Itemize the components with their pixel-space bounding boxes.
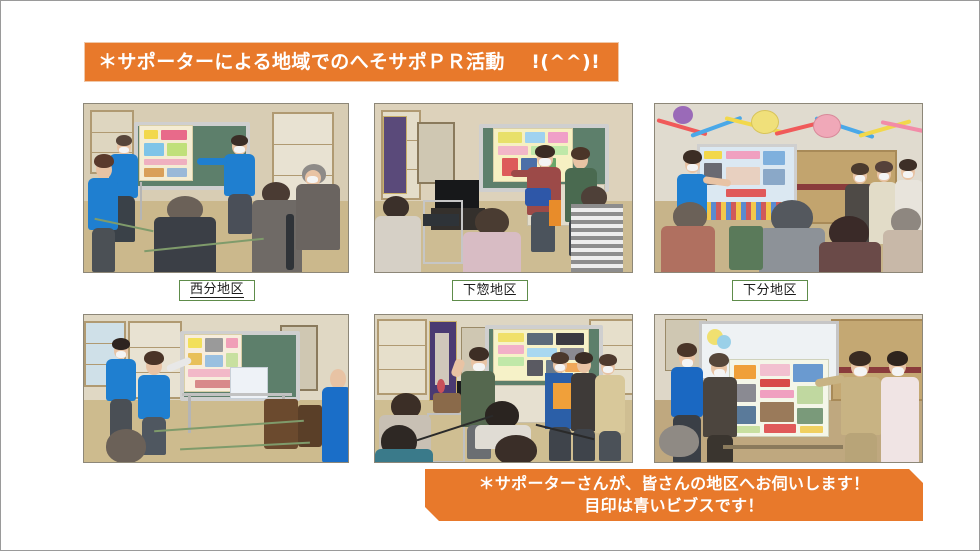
photo-bottom-right-scene	[655, 315, 922, 462]
photo-bottom-right	[654, 314, 923, 463]
photo-nishibun	[83, 103, 349, 273]
photo-shimobun-scene	[655, 104, 922, 272]
photo-bottom-center-scene	[375, 315, 632, 462]
caption-label: 下惣地区	[463, 284, 517, 297]
slide-canvas: ＊サポーターによる地域でのへそサポＰＲ活動 !(^^)!	[0, 0, 980, 551]
photo-bottom-left-scene	[84, 315, 348, 462]
photo-shimosou	[374, 103, 633, 273]
photo-bottom-center	[374, 314, 633, 463]
caption-label: 下分地区	[743, 284, 797, 297]
photo-shimobun	[654, 103, 923, 273]
bottom-banner: ＊サポーターさんが、皆さんの地区へお伺いします！ 目印は青いビブスです！	[425, 469, 923, 521]
photo-shimosou-scene	[375, 104, 632, 272]
photo-nishibun-scene	[84, 104, 348, 272]
bottom-banner-line2: 目印は青いビブスです！	[584, 495, 763, 517]
caption-shimobun: 下分地区	[732, 280, 808, 301]
photo-bottom-left	[83, 314, 349, 463]
caption-nishibun: 西分地区	[179, 280, 255, 301]
bottom-banner-line1: ＊サポーターさんが、皆さんの地区へお伺いします！	[479, 473, 870, 495]
title-banner: ＊サポーターによる地域でのへそサポＰＲ活動 !(^^)!	[85, 43, 618, 81]
caption-label: 西分地区	[190, 283, 244, 298]
caption-shimosou: 下惣地区	[452, 280, 528, 301]
page-title: ＊サポーターによる地域でのへそサポＰＲ活動 !(^^)!	[98, 53, 600, 72]
